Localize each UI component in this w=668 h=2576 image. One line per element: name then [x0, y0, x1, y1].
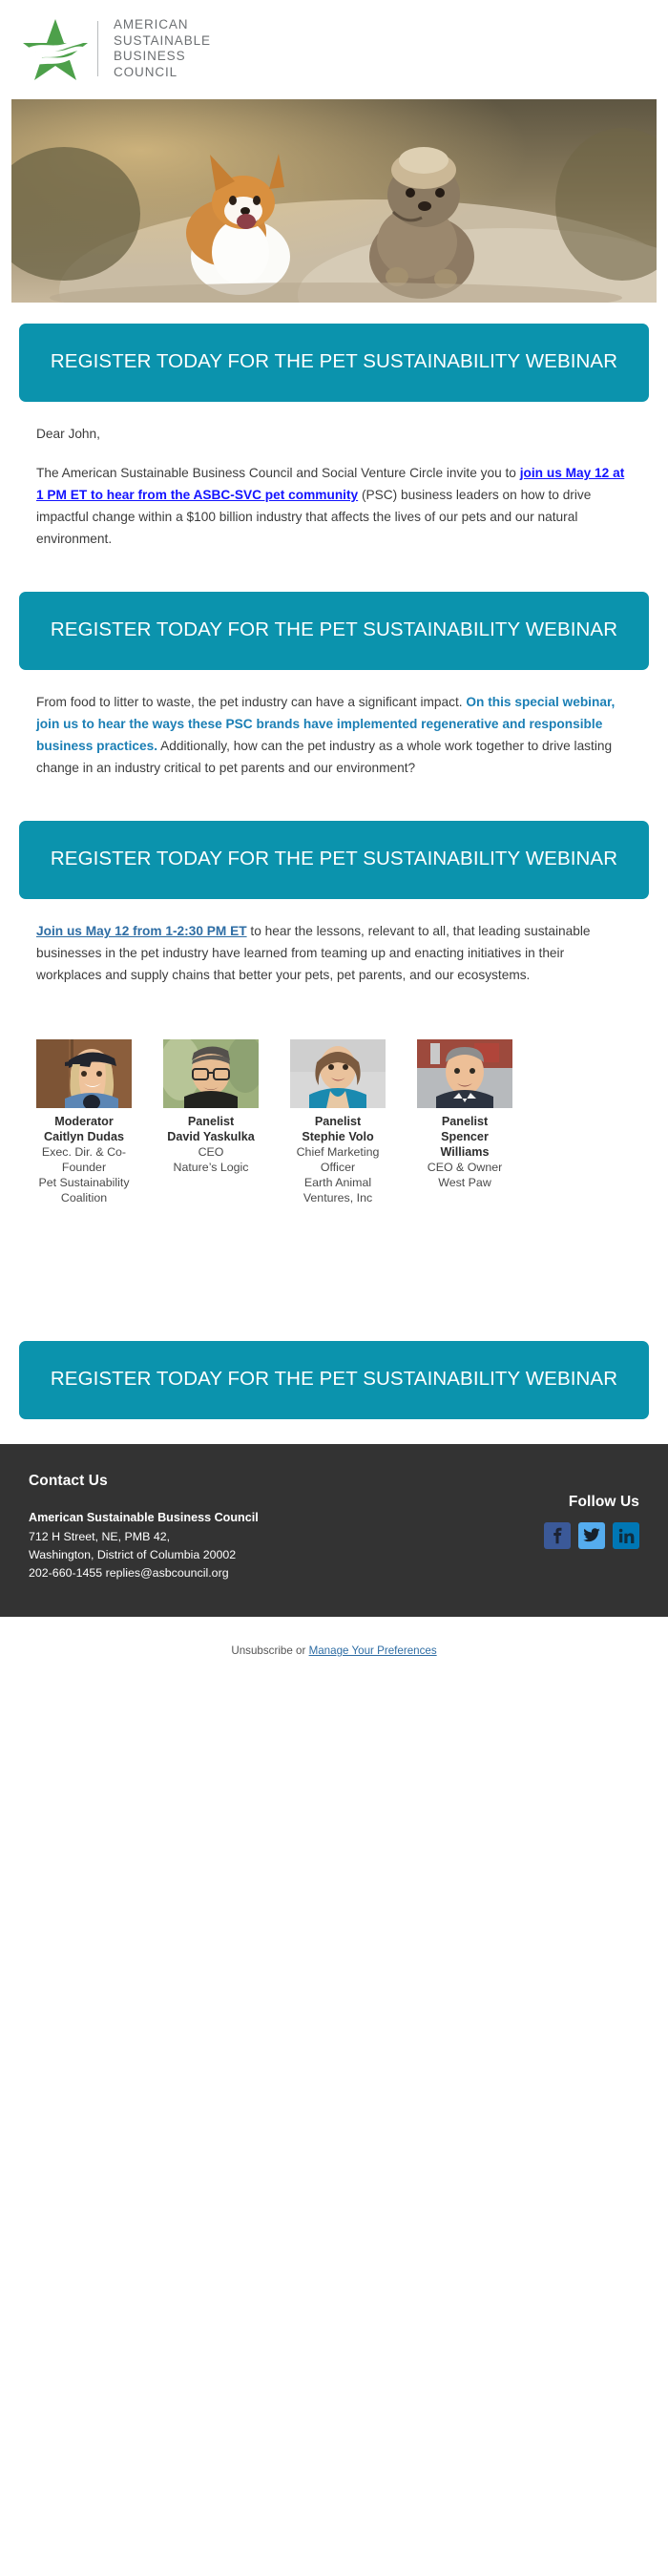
email-header: AMERICAN SUSTAINABLE BUSINESS COUNCIL	[0, 0, 668, 94]
brand-wordmark: AMERICAN SUSTAINABLE BUSINESS COUNCIL	[114, 17, 211, 80]
panelist-org: Nature’s Logic	[163, 1160, 259, 1175]
panelist-org: Earth Animal Ventures, Inc	[290, 1175, 386, 1205]
footer-contact-line: 202-660-1455 replies@asbcouncil.org	[29, 1564, 259, 1582]
panelist-org: Pet Sustainability Coalition	[36, 1175, 132, 1205]
unsubscribe-bar: Unsubscribe or Manage Your Preferences	[0, 1617, 668, 1688]
panelist-role: Panelist	[290, 1114, 386, 1129]
panelist-org: West Paw	[417, 1175, 512, 1190]
panelist-role: Panelist	[417, 1114, 512, 1129]
webinar-registration-link-2[interactable]: Join us May 12 from 1-2:30 PM ET	[36, 924, 247, 938]
footer-address-line-1: 712 H Street, NE, PMB 42,	[29, 1528, 259, 1546]
headshot-david-yaskulka-image	[163, 1039, 259, 1108]
panelist-card: Panelist Stephie Volo Chief Marketing Of…	[290, 1039, 386, 1205]
brand-line-3: BUSINESS	[114, 49, 211, 65]
paragraph-1: The American Sustainable Business Counci…	[36, 462, 632, 550]
paragraph-3: Join us May 12 from 1-2:30 PM ET to hear…	[36, 920, 632, 986]
brand-logo[interactable]: AMERICAN SUSTAINABLE BUSINESS COUNCIL	[21, 17, 211, 80]
paragraph-2-pre: From food to litter to waste, the pet in…	[36, 695, 466, 709]
cta-register-button-1[interactable]: REGISTER TODAY FOR THE PET SUSTAINABILIT…	[19, 324, 649, 402]
panelist-role: Panelist	[163, 1114, 259, 1129]
footer-org-name: American Sustainable Business Council	[29, 1509, 259, 1527]
headshot-caitlyn-dudas-image	[36, 1039, 132, 1108]
greeting-text: Dear John,	[36, 423, 632, 445]
footer-social-block: Follow Us	[544, 1473, 639, 1549]
panelist-title: CEO	[163, 1144, 259, 1160]
linkedin-icon[interactable]	[613, 1522, 639, 1549]
email-footer: Contact Us American Sustainable Business…	[0, 1444, 668, 1617]
facebook-icon[interactable]	[544, 1522, 571, 1549]
panelist-card: Moderator Caitlyn Dudas Exec. Dir. & Co-…	[36, 1039, 132, 1205]
panelist-name: Stephie Volo	[290, 1129, 386, 1144]
twitter-icon[interactable]	[578, 1522, 605, 1549]
logo-divider	[97, 21, 98, 76]
panelist-title: Exec. Dir. & Co-Founder	[36, 1144, 132, 1175]
panelist-role: Moderator	[36, 1114, 132, 1129]
footer-address-line-2: Washington, District of Columbia 20002	[29, 1546, 259, 1564]
follow-us-heading: Follow Us	[544, 1494, 639, 1511]
social-links	[544, 1522, 639, 1549]
cta-register-button-3[interactable]: REGISTER TODAY FOR THE PET SUSTAINABILIT…	[19, 821, 649, 899]
body-section-3: Join us May 12 from 1-2:30 PM ET to hear…	[19, 899, 649, 1007]
panelist-name: Spencer Williams	[417, 1129, 512, 1160]
panelist-title: CEO & Owner	[417, 1160, 512, 1175]
panelist-card: Panelist Spencer Williams CEO & Owner We…	[417, 1039, 512, 1205]
paragraph-2: From food to litter to waste, the pet in…	[36, 691, 632, 779]
footer-contact-block: Contact Us American Sustainable Business…	[29, 1473, 259, 1582]
brand-line-4: COUNCIL	[114, 65, 211, 81]
green-star-logo-icon	[21, 17, 90, 80]
body-section-1: Dear John, The American Sustainable Busi…	[19, 402, 649, 571]
spacer	[0, 1205, 668, 1320]
cta-register-button-2[interactable]: REGISTER TODAY FOR THE PET SUSTAINABILIT…	[19, 592, 649, 670]
email-body: AMERICAN SUSTAINABLE BUSINESS COUNCIL	[0, 0, 668, 1688]
body-section-2: From food to litter to waste, the pet in…	[19, 670, 649, 800]
unsubscribe-prefix: Unsubscribe or	[231, 1644, 308, 1657]
panelist-list: Moderator Caitlyn Dudas Exec. Dir. & Co-…	[19, 1039, 649, 1205]
hero-image	[11, 99, 657, 303]
manage-preferences-link[interactable]: Manage Your Preferences	[309, 1644, 437, 1657]
panelist-name: David Yaskulka	[163, 1129, 259, 1144]
brand-line-2: SUSTAINABLE	[114, 33, 211, 50]
contact-us-heading: Contact Us	[29, 1473, 259, 1490]
panelist-card: Panelist David Yaskulka CEO Nature’s Log…	[163, 1039, 259, 1205]
cta-register-button-4[interactable]: REGISTER TODAY FOR THE PET SUSTAINABILIT…	[19, 1341, 649, 1419]
panelist-name: Caitlyn Dudas	[36, 1129, 132, 1144]
headshot-stephie-volo-image	[290, 1039, 386, 1108]
brand-line-1: AMERICAN	[114, 17, 211, 33]
headshot-spencer-williams-image	[417, 1039, 512, 1108]
paragraph-1-pre: The American Sustainable Business Counci…	[36, 466, 520, 480]
panelist-title: Chief Marketing Officer	[290, 1144, 386, 1175]
